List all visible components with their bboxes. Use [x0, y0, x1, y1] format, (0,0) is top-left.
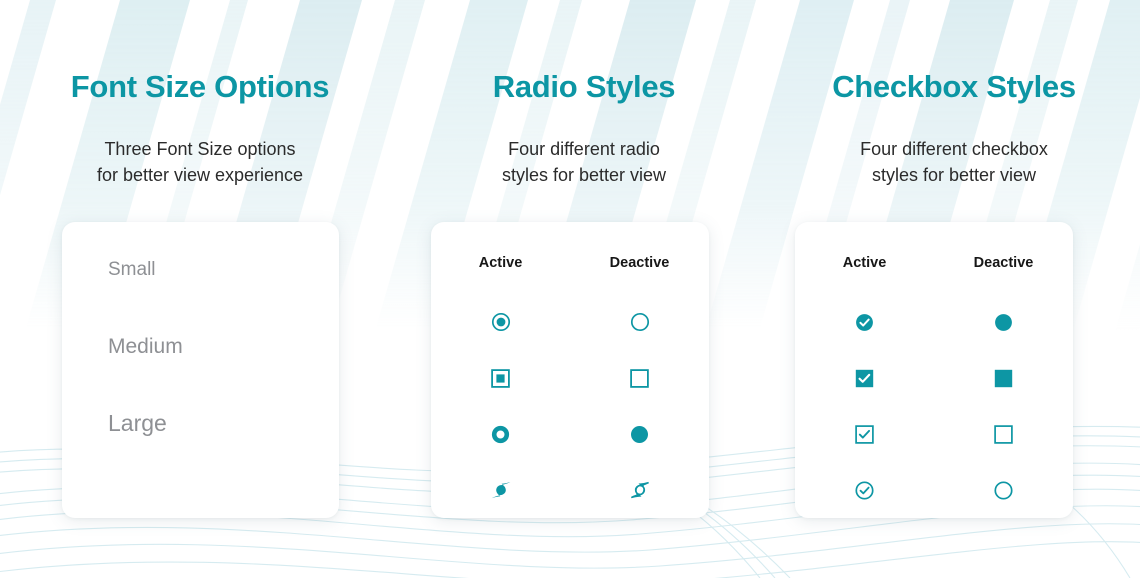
card-font-size-options: Small Medium Large [62, 222, 339, 518]
columns-container: Font Size Options Three Font Size option… [0, 0, 1140, 578]
column-font-size-options: Font Size Options Three Font Size option… [0, 0, 400, 578]
radio-slashed-circle-outline-icon[interactable] [629, 479, 651, 501]
radio-square-outline-empty-icon[interactable] [630, 369, 649, 388]
checkbox-style-row-4 [795, 462, 1073, 518]
page-title-checkbox-styles: Checkbox Styles [768, 69, 1140, 105]
radio-style-row-3 [431, 406, 709, 462]
card-radio-styles: Active Deactive [431, 222, 709, 518]
card-checkbox-styles: Active Deactive [795, 222, 1073, 518]
checkbox-cell-deactive-4[interactable] [934, 481, 1073, 500]
checkbox-square-check-outline-icon[interactable] [855, 425, 874, 444]
checkbox-cell-deactive-2[interactable] [934, 369, 1073, 388]
radio-style-rows [431, 294, 709, 518]
font-size-option-large[interactable]: Large [108, 412, 183, 435]
checkbox-cell-active-4[interactable] [795, 481, 934, 500]
checkbox-header-deactive: Deactive [934, 255, 1073, 271]
radio-style-row-2 [431, 350, 709, 406]
radio-cell-deactive-2[interactable] [570, 369, 709, 388]
checkbox-style-row-3 [795, 406, 1073, 462]
subtitle-line-2: styles for better view [768, 162, 1140, 188]
subtitle-line-1: Four different checkbox [768, 136, 1140, 162]
checkbox-square-filled-icon[interactable] [994, 369, 1013, 388]
checkbox-circle-outline-icon[interactable] [994, 481, 1013, 500]
page-title-font-size-options: Font Size Options [0, 69, 400, 105]
subtitle-radio-styles: Four different radio styles for better v… [400, 136, 768, 188]
checkbox-cell-active-3[interactable] [795, 425, 934, 444]
radio-cell-deactive-1[interactable] [570, 312, 709, 332]
checkbox-cell-deactive-1[interactable] [934, 313, 1073, 332]
font-size-option-list: Small Medium Large [108, 260, 183, 435]
radio-ring-empty-icon[interactable] [630, 312, 650, 332]
radio-disc-filled-icon[interactable] [630, 425, 649, 444]
checkbox-style-row-2 [795, 350, 1073, 406]
radio-cell-deactive-4[interactable] [570, 479, 709, 501]
column-radio-styles: Radio Styles Four different radio styles… [400, 0, 768, 578]
radio-cell-active-4[interactable] [431, 479, 570, 501]
radio-column-headers: Active Deactive [431, 255, 709, 271]
radio-cell-active-1[interactable] [431, 312, 570, 332]
subtitle-line-1: Three Font Size options [0, 136, 400, 162]
radio-cell-active-3[interactable] [431, 425, 570, 444]
subtitle-font-size-options: Three Font Size options for better view … [0, 136, 400, 188]
checkbox-circle-check-outline-icon[interactable] [855, 481, 874, 500]
checkbox-square-check-filled-icon[interactable] [855, 369, 874, 388]
checkbox-cell-active-2[interactable] [795, 369, 934, 388]
checkbox-circle-filled-icon[interactable] [994, 313, 1013, 332]
radio-style-row-1 [431, 294, 709, 350]
subtitle-line-2: styles for better view [400, 162, 768, 188]
radio-donut-icon[interactable] [491, 425, 510, 444]
radio-slashed-circle-filled-icon[interactable] [490, 479, 512, 501]
checkbox-square-outline-icon[interactable] [994, 425, 1013, 444]
radio-header-active: Active [431, 255, 570, 271]
radio-square-outline-filled-icon[interactable] [491, 369, 510, 388]
font-size-option-medium[interactable]: Medium [108, 336, 183, 357]
checkbox-cell-active-1[interactable] [795, 313, 934, 332]
radio-cell-deactive-3[interactable] [570, 425, 709, 444]
subtitle-checkbox-styles: Four different checkbox styles for bette… [768, 136, 1140, 188]
subtitle-line-2: for better view experience [0, 162, 400, 188]
radio-ring-dot-icon[interactable] [491, 312, 511, 332]
radio-style-row-4 [431, 462, 709, 518]
checkbox-header-active: Active [795, 255, 934, 271]
page-title-radio-styles: Radio Styles [400, 69, 768, 105]
subtitle-line-1: Four different radio [400, 136, 768, 162]
checkbox-style-rows [795, 294, 1073, 518]
radio-header-deactive: Deactive [570, 255, 709, 271]
radio-cell-active-2[interactable] [431, 369, 570, 388]
checkbox-cell-deactive-3[interactable] [934, 425, 1073, 444]
checkbox-style-row-1 [795, 294, 1073, 350]
checkbox-column-headers: Active Deactive [795, 255, 1073, 271]
checkbox-circle-check-filled-icon[interactable] [855, 313, 874, 332]
font-size-option-small[interactable]: Small [108, 260, 183, 279]
column-checkbox-styles: Checkbox Styles Four different checkbox … [768, 0, 1140, 578]
